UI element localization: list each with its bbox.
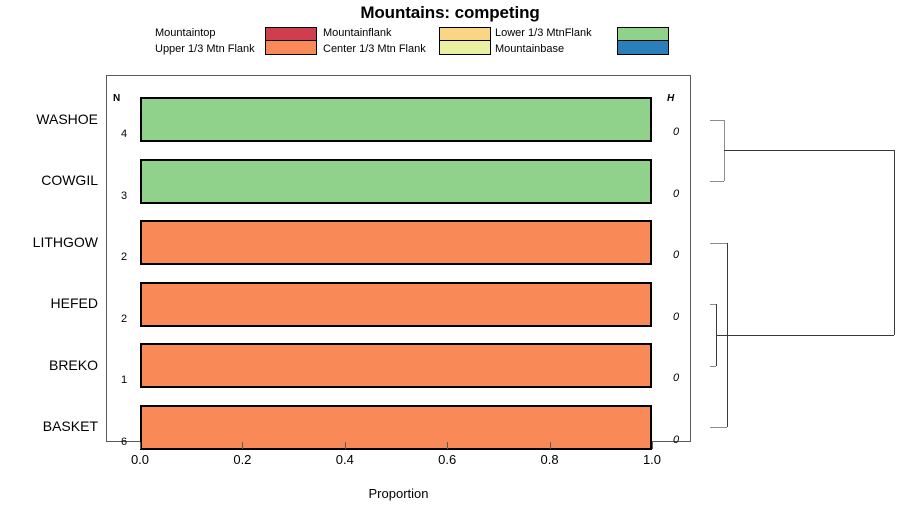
x-tick-label: 0.6 <box>427 452 467 467</box>
legend-label: Center 1/3 Mtn Flank <box>323 42 426 58</box>
legend-label: Mountainflank <box>323 26 426 42</box>
y-axis-label-breko: BREKO <box>0 357 98 373</box>
legend-label: Mountaintop <box>155 26 255 42</box>
n-value-lithgow: 2 <box>114 251 134 263</box>
legend-labels: Mountainflank Center 1/3 Mtn Flank <box>323 26 426 57</box>
legend-label: Lower 1/3 MtnFlank <box>495 26 592 42</box>
x-tick-label: 1.0 <box>632 452 672 467</box>
n-value-hefed: 2 <box>114 313 134 325</box>
y-axis-label-washoe: WASHOE <box>0 111 98 127</box>
x-tick <box>140 442 141 449</box>
y-axis-label-lithgow: LITHGOW <box>0 234 98 250</box>
legend-column: Mountaintop Upper 1/3 Mtn Flank <box>155 26 320 58</box>
page-title: Mountains: competing <box>0 3 900 23</box>
legend-label: Upper 1/3 Mtn Flank <box>155 42 255 58</box>
x-tick <box>652 442 653 449</box>
dendrogram-link <box>710 427 727 428</box>
x-axis: 0.00.20.40.60.81.0 Proportion <box>0 442 900 520</box>
legend-swatches <box>439 27 491 57</box>
legend-swatches <box>265 27 317 57</box>
x-tick <box>345 442 346 449</box>
bar-lithgow <box>140 220 652 265</box>
dendrogram-link <box>710 366 716 367</box>
x-tick-label: 0.2 <box>222 452 262 467</box>
dendrogram-link <box>716 335 727 336</box>
dendrogram-link <box>710 181 724 182</box>
legend-swatch-upper-third-mtn-flank <box>265 41 317 55</box>
h-value-cowgil: 0 <box>666 188 686 200</box>
legend-labels: Mountaintop Upper 1/3 Mtn Flank <box>155 26 255 57</box>
x-tick-label: 0.8 <box>530 452 570 467</box>
y-axis-label-basket: BASKET <box>0 418 98 434</box>
dendrogram-link <box>724 150 894 151</box>
bar-breko <box>140 343 652 388</box>
bar-hefed <box>140 282 652 327</box>
legend-labels: Lower 1/3 MtnFlank Mountainbase <box>495 26 592 57</box>
legend-label: Mountainbase <box>495 42 592 58</box>
x-tick-label: 0.4 <box>325 452 365 467</box>
legend-column: Lower 1/3 MtnFlank Mountainbase <box>495 26 655 58</box>
dendrogram-link <box>894 150 895 335</box>
dendrogram <box>691 75 900 442</box>
legend-swatch-mountainbase <box>617 41 669 55</box>
n-value-breko: 1 <box>114 374 134 386</box>
legend-swatch-mountainflank <box>439 27 491 41</box>
h-value-lithgow: 0 <box>666 249 686 261</box>
bar-washoe <box>140 97 652 142</box>
n-value-cowgil: 3 <box>114 190 134 202</box>
legend: Mountaintop Upper 1/3 Mtn Flank Mountain… <box>155 26 655 58</box>
x-tick <box>550 442 551 449</box>
legend-swatch-lower-third-mtn-flank <box>617 27 669 41</box>
legend-column: Mountainflank Center 1/3 Mtn Flank <box>323 26 493 58</box>
dendrogram-link <box>727 335 894 336</box>
column-header-h: H <box>667 93 674 104</box>
dendrogram-link <box>710 243 727 244</box>
dendrogram-link <box>710 120 724 121</box>
bar-cowgil <box>140 159 652 204</box>
h-value-washoe: 0 <box>666 126 686 138</box>
y-axis-label-hefed: HEFED <box>0 295 98 311</box>
legend-swatches <box>617 27 669 57</box>
x-tick <box>447 442 448 449</box>
h-value-hefed: 0 <box>666 311 686 323</box>
y-axis-label-cowgil: COWGIL <box>0 172 98 188</box>
legend-swatch-mountaintop <box>265 27 317 41</box>
x-axis-title: Proportion <box>0 486 797 501</box>
x-tick <box>242 442 243 449</box>
n-value-washoe: 4 <box>114 128 134 140</box>
legend-swatch-center-third-mtn-flank <box>439 41 491 55</box>
x-tick-label: 0.0 <box>120 452 160 467</box>
h-value-breko: 0 <box>666 372 686 384</box>
column-header-n: N <box>113 93 120 104</box>
